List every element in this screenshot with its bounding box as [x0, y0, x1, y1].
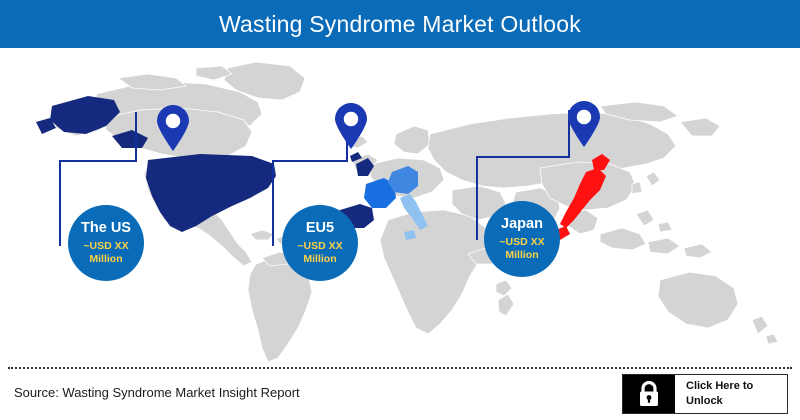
unlock-button-label: Click Here to Unlock	[675, 375, 787, 413]
map-pin-eu5	[334, 103, 368, 149]
callout-title: EU5	[306, 220, 334, 236]
lock-icon	[637, 380, 661, 408]
market-outlook-infographic: Wasting Syndrome Market Outlook	[0, 0, 800, 420]
callout-title: Japan	[501, 216, 543, 232]
callout-value: ~USD XX Million	[297, 240, 342, 266]
callout-value: ~USD XX Million	[83, 240, 128, 266]
map-pin-us	[156, 105, 190, 151]
map-pin-japan	[567, 101, 601, 147]
unlock-button[interactable]: Click Here to Unlock	[622, 374, 788, 414]
callout-eu5[interactable]: EU5 ~USD XX Million	[282, 205, 358, 281]
callout-the-us[interactable]: The US ~USD XX Million	[68, 205, 144, 281]
world-map-container: The US ~USD XX Million EU5 ~USD XX Milli…	[0, 48, 800, 368]
header-banner: Wasting Syndrome Market Outlook	[0, 0, 800, 48]
callout-title: The US	[81, 220, 131, 236]
footer-divider	[8, 367, 792, 369]
page-title: Wasting Syndrome Market Outlook	[219, 11, 581, 38]
callout-value: ~USD XX Million	[499, 236, 544, 262]
lock-icon-wrapper	[623, 375, 675, 413]
callout-japan[interactable]: Japan ~USD XX Million	[484, 201, 560, 277]
source-text: Source: Wasting Syndrome Market Insight …	[14, 385, 300, 400]
